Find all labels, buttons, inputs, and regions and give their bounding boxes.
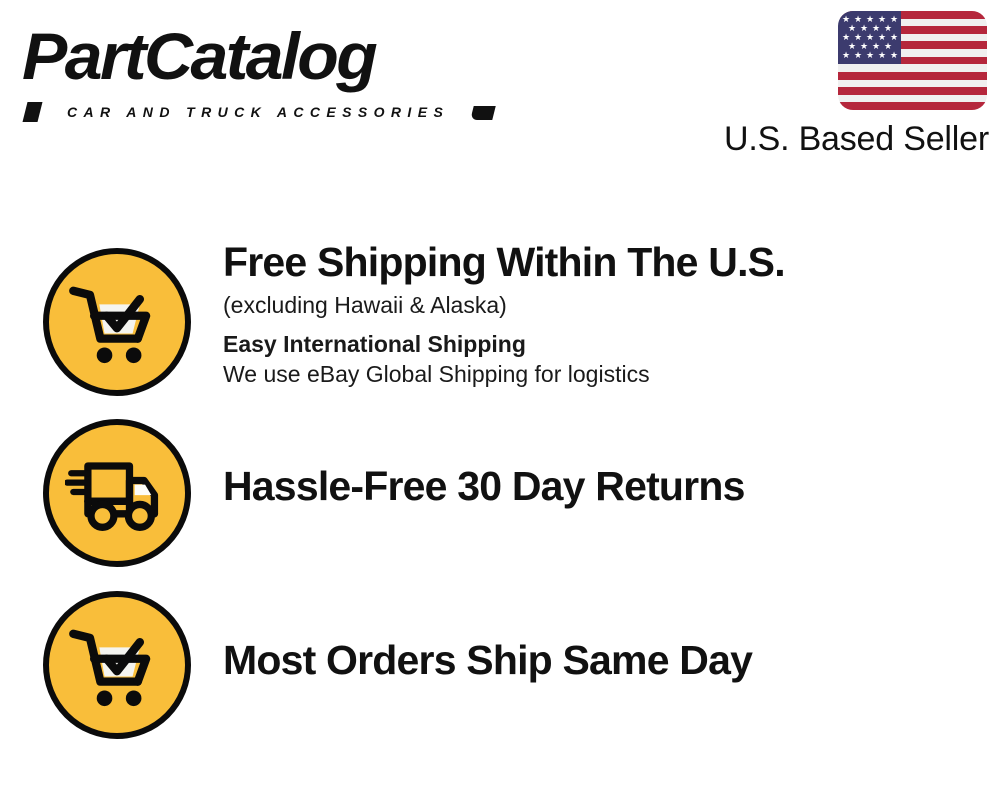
feature-text-block: Most Orders Ship Same Day	[223, 637, 963, 683]
brand-tagline-row: CAR AND TRUCK ACCESSORIES	[25, 102, 493, 122]
shopping-cart-check-icon	[65, 270, 169, 374]
shopping-cart-check-badge	[43, 591, 191, 739]
us-based-seller-label: U.S. Based Seller	[724, 119, 986, 159]
brand-wordmark: PartCatalog	[22, 18, 375, 94]
shopping-cart-check-badge	[43, 248, 191, 396]
header-banner: PartCatalog CAR AND TRUCK ACCESSORIES ★ …	[0, 0, 1000, 175]
shopping-cart-check-icon	[65, 613, 169, 717]
feature-subtext: We use eBay Global Shipping for logistic…	[223, 359, 963, 389]
brand-logo: PartCatalog CAR AND TRUCK ACCESSORIES	[22, 18, 492, 114]
logo-slash-right-icon	[470, 106, 495, 120]
feature-subtext-strong: Easy International Shipping	[223, 329, 963, 359]
brand-tagline: CAR AND TRUCK ACCESSORIES	[67, 102, 449, 122]
us-flag-icon: ★ ★ ★ ★ ★ ★ ★ ★ ★ ★ ★ ★ ★ ★ ★ ★ ★ ★ ★ ★ …	[838, 11, 987, 110]
feature-subtext: (excluding Hawaii & Alaska)	[223, 290, 963, 320]
logo-slash-left-icon	[23, 102, 43, 122]
delivery-truck-icon	[65, 441, 169, 545]
delivery-truck-badge	[43, 419, 191, 567]
feature-heading: Hassle-Free 30 Day Returns	[223, 463, 963, 509]
feature-heading: Most Orders Ship Same Day	[223, 637, 963, 683]
flag-canton: ★ ★ ★ ★ ★ ★ ★ ★ ★ ★ ★ ★ ★ ★ ★ ★ ★ ★ ★ ★ …	[838, 11, 901, 64]
feature-heading: Free Shipping Within The U.S.	[223, 239, 963, 285]
feature-text-block: Free Shipping Within The U.S. (excluding…	[223, 239, 963, 389]
feature-text-block: Hassle-Free 30 Day Returns	[223, 463, 963, 509]
feature-row: Hassle-Free 30 Day Returns	[0, 419, 1000, 579]
feature-row: Free Shipping Within The U.S. (excluding…	[0, 248, 1000, 408]
feature-row: Most Orders Ship Same Day	[0, 591, 1000, 751]
